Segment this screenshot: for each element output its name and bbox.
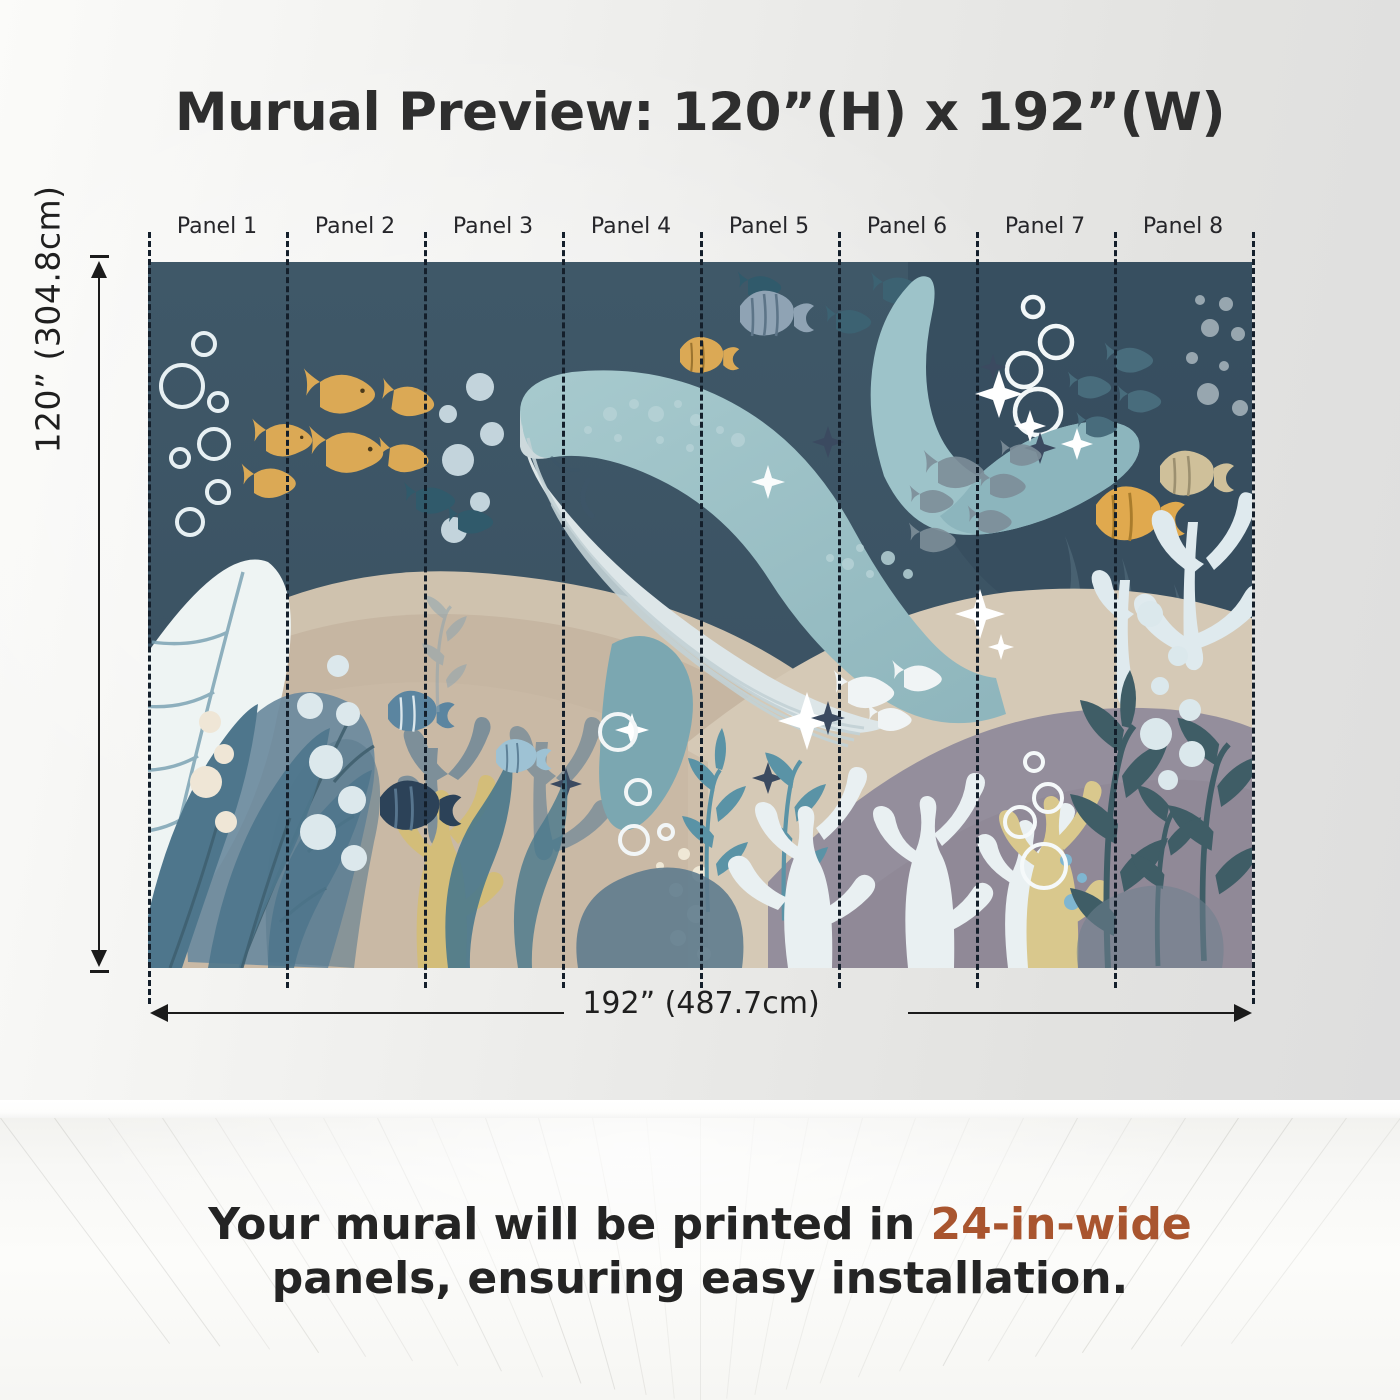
width-dimension-text: 192” (487.7cm) xyxy=(564,986,837,1021)
mural-edge-divider xyxy=(148,232,151,1004)
arrow-up-icon xyxy=(91,261,107,278)
panel-label-2: Panel 2 xyxy=(286,214,424,239)
panel-label-1: Panel 1 xyxy=(148,214,286,239)
footer-caption: Your mural will be printed in 24-in-wide… xyxy=(70,1198,1330,1305)
panel-divider-2 xyxy=(424,232,427,988)
panel-label-6: Panel 6 xyxy=(838,214,976,239)
panel-divider-4 xyxy=(700,232,703,988)
caption-line1-prefix: Your mural will be printed in xyxy=(208,1199,930,1250)
height-tick-bottom xyxy=(90,970,109,973)
panel-divider-7 xyxy=(1114,232,1117,988)
panel-label-7: Panel 7 xyxy=(976,214,1114,239)
width-dimension-label: 192” (487.7cm) xyxy=(150,986,1252,1021)
height-dimension-label: 120” (304.8cm) xyxy=(29,120,68,520)
arrow-down-icon xyxy=(91,950,107,967)
height-dimension-arrow xyxy=(90,255,108,973)
page-title: Murual Preview: 120”(H) x 192”(W) xyxy=(0,82,1400,143)
panel-label-row: Panel 1Panel 2Panel 3Panel 4Panel 5Panel… xyxy=(148,214,1252,248)
mural-preview-page: Murual Preview: 120”(H) x 192”(W) xyxy=(0,0,1400,1400)
caption-line2: panels, ensuring easy installation. xyxy=(272,1253,1129,1304)
panel-label-4: Panel 4 xyxy=(562,214,700,239)
panel-label-5: Panel 5 xyxy=(700,214,838,239)
panel-label-8: Panel 8 xyxy=(1114,214,1252,239)
mural-edge-divider xyxy=(1252,232,1255,1004)
panel-divider-5 xyxy=(838,232,841,988)
height-arrow-shaft xyxy=(98,265,100,963)
height-tick-top xyxy=(90,255,109,258)
panel-divider-1 xyxy=(286,232,289,988)
panel-divider-6 xyxy=(976,232,979,988)
panel-label-3: Panel 3 xyxy=(424,214,562,239)
caption-highlight: 24-in-wide xyxy=(931,1199,1192,1250)
panel-divider-3 xyxy=(562,232,565,988)
